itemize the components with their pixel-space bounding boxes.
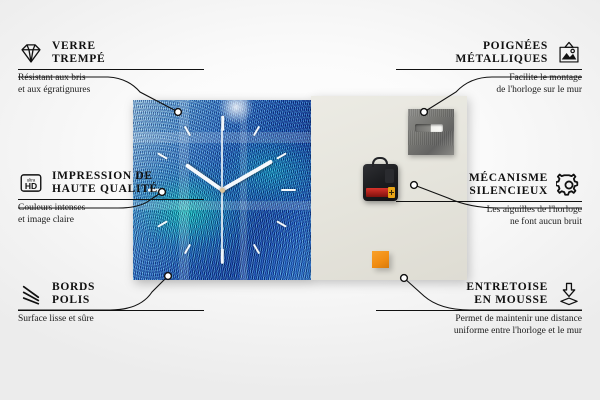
metal-hanger-plate	[408, 109, 454, 155]
feature-header: ultra HD IMPRESSION DE HAUTE QUALITÉ	[18, 170, 204, 199]
feature-sub-line2: et aux égratignures	[18, 85, 204, 97]
feature-title: ENTRETOISE EN MOUSSE	[466, 281, 548, 307]
feature-title-line1: IMPRESSION DE	[52, 170, 158, 183]
feature-header: VERRE TREMPÉ	[18, 40, 204, 69]
hanger-keyhole-slot	[415, 124, 443, 132]
feature-title-line2: POLIS	[52, 294, 95, 307]
feature-bords-polis[interactable]: BORDS POLIS Surface lisse et sûre	[18, 281, 204, 326]
feature-subtitle: Résistant aux bris et aux égratignures	[18, 70, 204, 96]
feature-impression-haute-qualite[interactable]: ultra HD IMPRESSION DE HAUTE QUALITÉ Cou…	[18, 170, 204, 226]
down-arrow-pad-icon	[556, 281, 582, 307]
feature-title-line2: HAUTE QUALITÉ	[52, 183, 158, 196]
feature-subtitle: Facilite le montage de l'horloge sur le …	[396, 70, 582, 96]
feature-sub-line1: Surface lisse et sûre	[18, 314, 204, 326]
gear-icon	[556, 172, 582, 198]
feature-title-line1: POIGNÉES	[456, 40, 548, 53]
infographic-canvas: VERRE TREMPÉ Résistant aux bris et aux é…	[0, 0, 600, 400]
feature-title-line2: TREMPÉ	[52, 53, 105, 66]
ultra-hd-icon-main-text: HD	[25, 181, 37, 191]
feature-sub-line1: Permet de maintenir une distance	[376, 314, 582, 326]
framed-picture-hanging-icon	[556, 40, 582, 66]
feature-title-line1: MÉCANISME	[469, 172, 548, 185]
feature-header: ENTRETOISE EN MOUSSE	[376, 281, 582, 310]
feature-header: POIGNÉES MÉTALLIQUES	[396, 40, 582, 69]
feature-title-line2: MÉTALLIQUES	[456, 53, 548, 66]
highlight-glow	[218, 100, 254, 125]
feature-sub-line1: Résistant aux bris	[18, 73, 204, 85]
feature-subtitle: Surface lisse et sûre	[18, 311, 204, 326]
feature-title-line1: VERRE	[52, 40, 105, 53]
clock-tick	[281, 189, 296, 192]
feature-sub-line2: de l'horloge sur le mur	[396, 85, 582, 97]
feature-title-line2: SILENCIEUX	[469, 185, 548, 198]
feature-title: MÉCANISME SILENCIEUX	[469, 172, 548, 198]
foam-spacer	[372, 251, 389, 268]
diamond-icon	[18, 40, 44, 66]
feature-title-line1: BORDS	[52, 281, 95, 294]
feature-header: BORDS POLIS	[18, 281, 204, 310]
clock-center-hub	[220, 188, 225, 193]
feature-subtitle: Permet de maintenir une distance uniform…	[376, 311, 582, 337]
feature-title: BORDS POLIS	[52, 281, 95, 307]
feature-sub-line1: Facilite le montage	[396, 73, 582, 85]
feature-subtitle: Couleurs intenses et image claire	[18, 200, 204, 226]
feature-poignees-metalliques[interactable]: POIGNÉES MÉTALLIQUES Facilite le montage…	[396, 40, 582, 96]
feature-title: IMPRESSION DE HAUTE QUALITÉ	[52, 170, 158, 196]
battery-plus-terminal	[388, 187, 395, 198]
polished-edges-icon	[18, 281, 44, 307]
feature-title: POIGNÉES MÉTALLIQUES	[456, 40, 548, 66]
feature-subtitle: Les aiguilles de l'horloge ne font aucun…	[396, 202, 582, 228]
feature-title-line2: EN MOUSSE	[466, 294, 548, 307]
feature-sub-line1: Couleurs intenses	[18, 203, 204, 215]
quartz-mechanism	[363, 164, 398, 201]
feature-sub-line2: et image claire	[18, 215, 204, 227]
feature-title-line1: ENTRETOISE	[466, 281, 548, 294]
ultra-hd-icon: ultra HD	[18, 170, 44, 196]
feature-mecanisme-silencieux[interactable]: MÉCANISME SILENCIEUX Les aiguilles de l'…	[396, 172, 582, 228]
feature-sub-line2: ne font aucun bruit	[396, 217, 582, 229]
feature-header: MÉCANISME SILENCIEUX	[396, 172, 582, 201]
mechanism-time-dial	[385, 169, 394, 183]
feature-sub-line2: uniforme entre l'horloge et le mur	[376, 326, 582, 338]
feature-sub-line1: Les aiguilles de l'horloge	[396, 205, 582, 217]
feature-entretoise-en-mousse[interactable]: ENTRETOISE EN MOUSSE Permet de maintenir…	[376, 281, 582, 337]
mechanism-hanging-loop	[372, 157, 388, 167]
feature-title: VERRE TREMPÉ	[52, 40, 105, 66]
feature-verre-trempe[interactable]: VERRE TREMPÉ Résistant aux bris et aux é…	[18, 40, 204, 96]
